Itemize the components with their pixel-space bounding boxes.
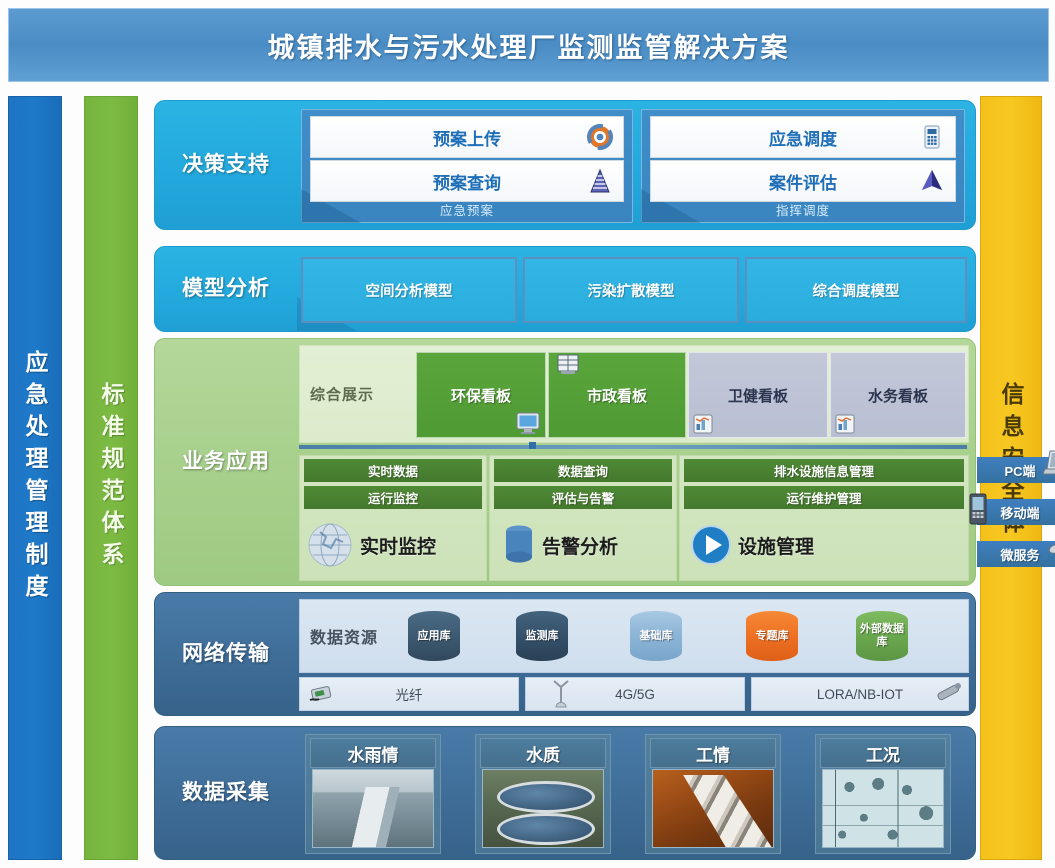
collection-item-engineering-label: 工情 (650, 738, 776, 768)
database-external-label: 外部数据库 (856, 611, 908, 661)
side-pillar-standards: 标准规范体系 (84, 96, 138, 860)
page-title-bar: 城镇排水与污水处理厂监测监管解决方案 (8, 8, 1049, 82)
chart-icon (834, 413, 856, 435)
business-bar-drainage-info[interactable]: 排水设施信息管理 (684, 459, 964, 482)
device-pc-label: PC端 (1004, 461, 1035, 480)
decision-item-plan-query[interactable]: 预案查询 (310, 160, 624, 202)
page-title: 城镇排水与污水处理厂监测监管解决方案 (268, 26, 790, 65)
layer-model-analysis: 模型分析 空间分析模型 污染扩散模型 综合调度模型 (154, 246, 976, 332)
layer-data-collection: 数据采集 水雨情 水质 工情 工况 (154, 726, 976, 860)
business-feature-facility-management[interactable]: 设施管理 (684, 514, 964, 576)
layer-network-transmission: 网络传输 数据资源 应用库 监测库 基础库 专题库 外部数据库 (154, 592, 976, 716)
collection-item-operating-condition[interactable]: 工况 (815, 734, 951, 854)
business-column-facility: 排水设施信息管理 运行维护管理 设施管理 (679, 455, 969, 581)
link-lora-label: LORA/NB-IOT (817, 687, 903, 702)
sensor-icon (934, 680, 964, 706)
canal-photo (312, 769, 434, 848)
phone-icon (967, 493, 989, 525)
client-devices-group: PC端 移动端 (971, 455, 1055, 579)
kanban-environment[interactable]: 环保看板 (416, 352, 546, 438)
globe-icon (304, 519, 356, 571)
model-item-spatial-label: 空间分析模型 (366, 280, 453, 301)
pyramid-icon (587, 168, 613, 194)
model-item-dispatch-label: 综合调度模型 (813, 280, 900, 301)
antenna-icon (550, 679, 572, 709)
collection-item-water-quality-label: 水质 (480, 738, 606, 768)
diamond-icon (919, 168, 945, 194)
side-pillar-emergency-policy: 应急处理管理制度 (8, 96, 62, 860)
decision-item-case-evaluation-label: 案件评估 (769, 169, 837, 194)
device-microservice[interactable]: 微服务 (977, 541, 1055, 567)
business-feature-alarm-analysis-label: 告警分析 (542, 532, 618, 559)
business-column-monitoring: 实时数据 运行监控 实时监控 (299, 455, 487, 581)
database-monitoring-label: 监测库 (516, 611, 568, 661)
decision-group-command-dispatch-title: 指挥调度 (642, 202, 964, 220)
link-fiber[interactable]: 光纤 (299, 677, 519, 711)
kanban-municipal[interactable]: 市政看板 (548, 352, 686, 438)
decision-group-emergency-plan-title: 应急预案 (302, 202, 632, 220)
kanban-water-affairs-label: 水务看板 (868, 385, 928, 406)
calculator-icon (919, 124, 945, 150)
divider-marker-icon (529, 442, 536, 449)
database-monitoring[interactable]: 监测库 (516, 611, 568, 661)
business-bar-drainage-info-label: 排水设施信息管理 (774, 461, 874, 480)
comprehensive-display-label: 综合展示 (310, 384, 374, 405)
business-feature-realtime-monitoring-label: 实时监控 (360, 532, 436, 559)
layer-decision-support-label: 决策支持 (155, 101, 297, 229)
decision-item-plan-upload-label: 预案上传 (433, 125, 501, 150)
business-bar-maintenance-label: 运行维护管理 (786, 488, 861, 507)
data-resource-label: 数据资源 (310, 624, 378, 648)
business-bar-data-query-label: 数据查询 (558, 461, 608, 480)
business-bar-realtime-data[interactable]: 实时数据 (304, 459, 482, 482)
chart-icon (692, 413, 714, 435)
model-item-spatial[interactable]: 空间分析模型 (301, 257, 517, 323)
business-bar-data-query[interactable]: 数据查询 (494, 459, 672, 482)
model-item-dispatch[interactable]: 综合调度模型 (745, 257, 967, 323)
decision-item-emergency-dispatch-label: 应急调度 (769, 125, 837, 150)
pipeline-photo (652, 769, 774, 848)
device-microservice-label: 微服务 (1000, 545, 1039, 564)
layer-decision-support: 决策支持 预案上传 预案查询 (154, 100, 976, 230)
kanban-health[interactable]: 卫健看板 (688, 352, 828, 438)
layer-network-transmission-label: 网络传输 (155, 593, 297, 715)
collection-item-engineering[interactable]: 工情 (645, 734, 781, 854)
kanban-municipal-label: 市政看板 (587, 385, 647, 406)
business-feature-facility-management-label: 设施管理 (738, 532, 814, 559)
layer-model-analysis-label: 模型分析 (155, 247, 297, 331)
layer-data-collection-label: 数据采集 (155, 727, 297, 859)
decision-group-emergency-plan: 预案上传 预案查询 (301, 109, 633, 223)
comprehensive-display-panel: 综合展示 环保看板 市政看板 (299, 345, 969, 443)
link-cellular[interactable]: 4G/5G (525, 677, 745, 711)
database-thematic-label: 专题库 (746, 611, 798, 661)
laptop-icon (1043, 449, 1055, 477)
database-icon (500, 522, 538, 568)
business-feature-realtime-monitoring[interactable]: 实时监控 (304, 514, 482, 576)
model-item-pollution[interactable]: 污染扩散模型 (523, 257, 739, 323)
kanban-health-label: 卫健看板 (728, 385, 788, 406)
layer-business-application: 业务应用 综合展示 环保看板 市政看板 (154, 338, 976, 586)
database-application[interactable]: 应用库 (408, 611, 460, 661)
play-circle-icon (688, 522, 734, 568)
data-resource-panel: 数据资源 应用库 监测库 基础库 专题库 外部数据库 (299, 599, 969, 673)
link-cellular-label: 4G/5G (615, 687, 655, 702)
database-thematic[interactable]: 专题库 (746, 611, 798, 661)
fiber-icon (308, 682, 336, 706)
database-external[interactable]: 外部数据库 (856, 611, 908, 661)
link-lora[interactable]: LORA/NB-IOT (751, 677, 969, 711)
window-icon (555, 353, 581, 377)
monitor-icon (515, 411, 541, 435)
model-item-pollution-label: 污染扩散模型 (588, 280, 675, 301)
database-basic-label: 基础库 (630, 611, 682, 661)
kanban-environment-label: 环保看板 (451, 385, 511, 406)
collection-item-operating-condition-label: 工况 (820, 738, 946, 768)
collection-item-hydrology-label: 水雨情 (310, 738, 436, 768)
collection-item-water-quality[interactable]: 水质 (475, 734, 611, 854)
transmission-links-row: 光纤 4G/5G LORA/NB-IOT (299, 677, 967, 709)
business-bar-evaluation-alarm[interactable]: 评估与告警 (494, 486, 672, 509)
decision-item-case-evaluation[interactable]: 案件评估 (650, 160, 956, 202)
decision-item-plan-query-label: 预案查询 (433, 169, 501, 194)
decision-item-plan-upload[interactable]: 预案上传 (310, 116, 624, 158)
business-bar-evaluation-alarm-label: 评估与告警 (552, 488, 615, 507)
collection-item-hydrology[interactable]: 水雨情 (305, 734, 441, 854)
link-fiber-label: 光纤 (396, 684, 423, 704)
layer-business-application-label: 业务应用 (155, 339, 297, 585)
lifebuoy-icon (587, 124, 613, 150)
side-pillar-emergency-policy-label: 应急处理管理制度 (18, 350, 52, 606)
database-basic[interactable]: 基础库 (630, 611, 682, 661)
kanban-water-affairs[interactable]: 水务看板 (830, 352, 966, 438)
treatment-tanks-photo (482, 769, 604, 848)
decision-item-emergency-dispatch[interactable]: 应急调度 (650, 116, 956, 158)
device-mobile-label: 移动端 (1000, 503, 1039, 522)
database-application-label: 应用库 (408, 611, 460, 661)
business-bar-realtime-data-label: 实时数据 (368, 461, 418, 480)
business-bar-operation-monitor[interactable]: 运行监控 (304, 486, 482, 509)
business-bar-operation-monitor-label: 运行监控 (368, 488, 418, 507)
section-divider (299, 445, 967, 449)
gear-icon (1047, 537, 1055, 565)
scada-diagram-photo (822, 769, 944, 848)
business-column-alarm: 数据查询 评估与告警 告警分析 (489, 455, 677, 581)
diagram-canvas: 城镇排水与污水处理厂监测监管解决方案 应急处理管理制度 标准规范体系 信息安全体… (0, 0, 1055, 868)
decision-group-command-dispatch: 应急调度 案件评估 (641, 109, 965, 223)
business-feature-alarm-analysis[interactable]: 告警分析 (494, 514, 672, 576)
business-bar-maintenance[interactable]: 运行维护管理 (684, 486, 964, 509)
side-pillar-standards-label: 标准规范体系 (94, 382, 128, 574)
